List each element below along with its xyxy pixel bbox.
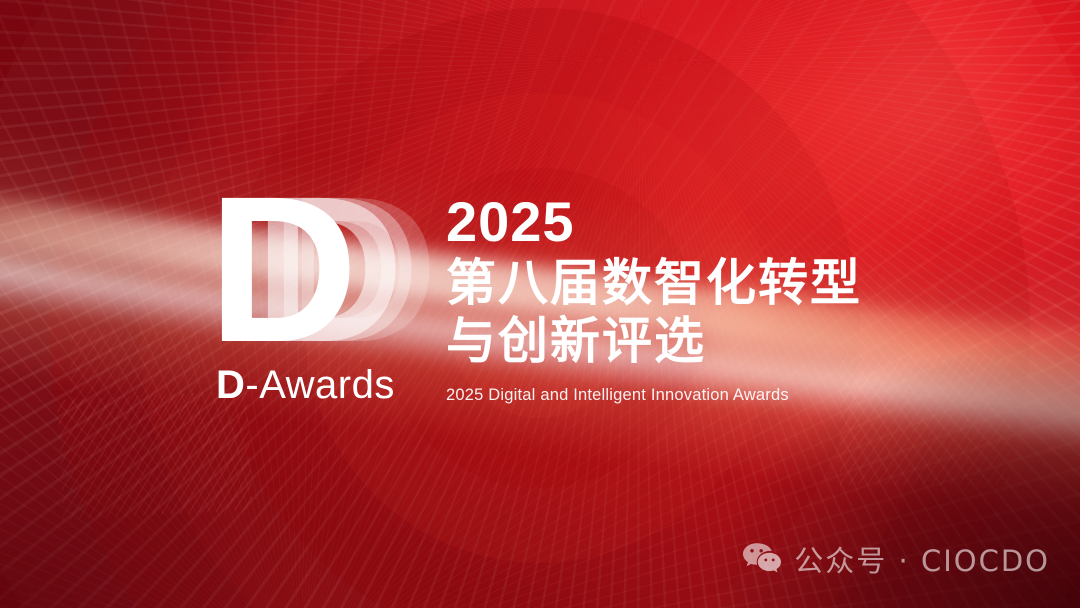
award-year: 2025 bbox=[446, 192, 916, 252]
brand-logo: D D D D D-Awards bbox=[208, 195, 438, 410]
title-line-1: 第八届数智化转型 bbox=[446, 256, 916, 310]
wechat-icon bbox=[742, 542, 782, 576]
award-poster: D D D D D-Awards 2025 第八届数智化转型 与创新评选 202… bbox=[0, 0, 1080, 608]
headline-block: 2025 第八届数智化转型 与创新评选 2025 Digital and Int… bbox=[446, 192, 916, 405]
watermark-label: 公众号 · CIOCDO bbox=[794, 538, 1050, 580]
poster-content: D D D D D-Awards 2025 第八届数智化转型 与创新评选 202… bbox=[0, 0, 1080, 608]
logo-wordmark-bold: D bbox=[216, 363, 245, 407]
logo-wordmark: D-Awards bbox=[216, 363, 395, 408]
logo-wordmark-light: -Awards bbox=[245, 363, 394, 407]
title-line-2: 与创新评选 bbox=[446, 314, 916, 368]
d-letter-mark: D D D D bbox=[208, 195, 408, 353]
wechat-watermark: 公众号 · CIOCDO bbox=[742, 538, 1050, 580]
d-letter-solid: D bbox=[208, 195, 358, 345]
subtitle-english: 2025 Digital and Intelligent Innovation … bbox=[446, 386, 916, 405]
